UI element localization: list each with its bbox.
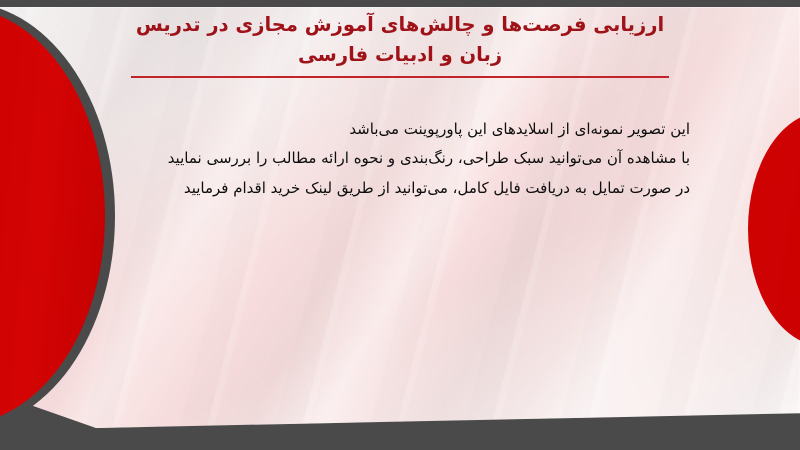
slide-body-area: این تصویر نمونه‌ای از اسلایدهای این پاور…	[105, 118, 690, 200]
slide-canvas: ارزیابی فرصت‌ها و چالش‌های آموزش مجازی د…	[0, 0, 800, 450]
body-line-2: با مشاهده آن می‌توانید سبک طراحی، رنگ‌بن…	[105, 147, 690, 170]
slide-title: ارزیابی فرصت‌ها و چالش‌های آموزش مجازی د…	[110, 10, 690, 69]
body-line-1: این تصویر نمونه‌ای از اسلایدهای این پاور…	[105, 118, 690, 141]
background-arc-texture	[0, 7, 800, 428]
slide-title-area: ارزیابی فرصت‌ها و چالش‌های آموزش مجازی د…	[110, 10, 690, 69]
slide-content-plate	[0, 7, 800, 428]
title-underline-rule	[131, 76, 669, 78]
body-line-3: در صورت تمایل به دریافت فایل کامل، می‌تو…	[105, 177, 690, 200]
